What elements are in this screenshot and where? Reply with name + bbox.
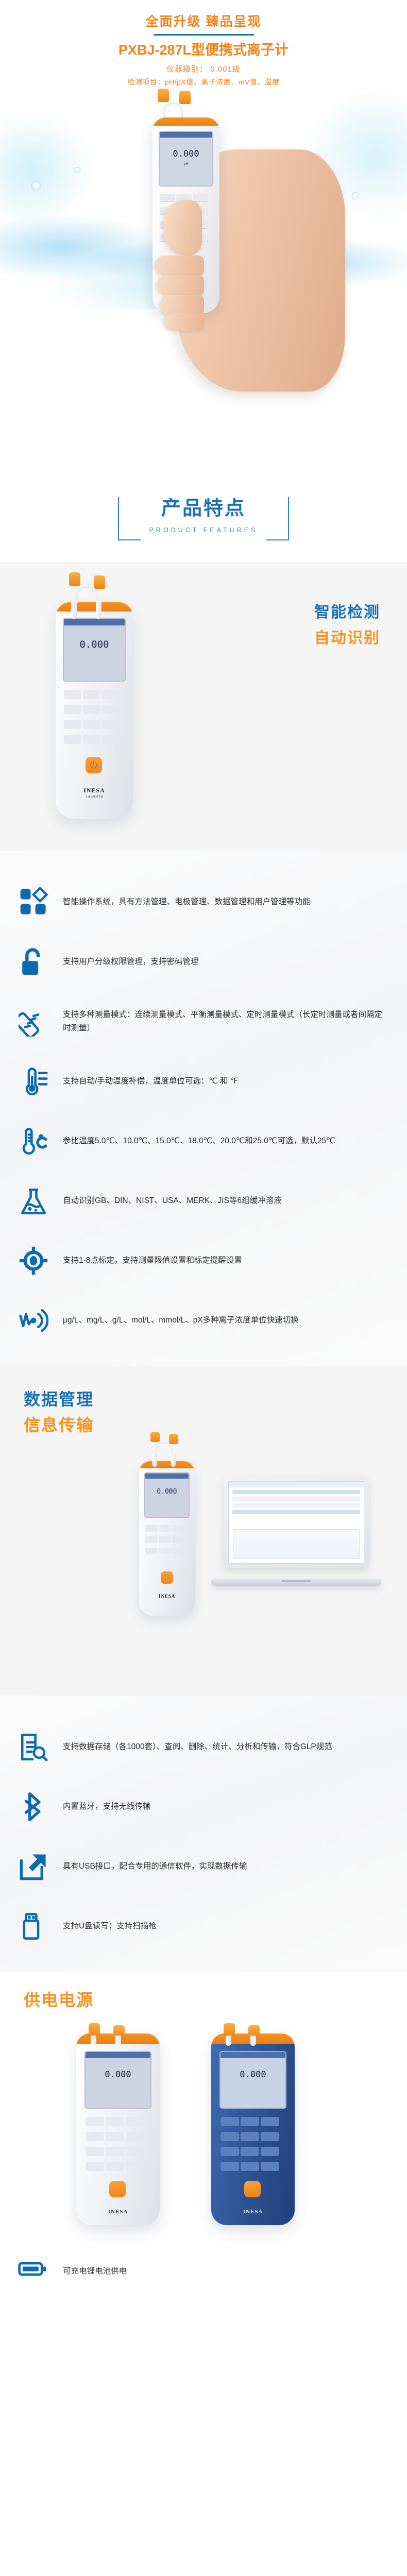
feature-item: μg/L、mg/L、g/L、mol/L、mmol/L、pX多种离子浓度单位快速切… — [0, 1291, 407, 1350]
feature-item: 参比温度5.0℃、10.0℃、15.0℃、18.0℃、20.0℃和25.0℃可选… — [0, 1111, 407, 1171]
key[interactable] — [126, 2162, 144, 2171]
title-divider — [154, 34, 254, 36]
key[interactable] — [126, 2132, 144, 2141]
key[interactable] — [106, 2117, 124, 2126]
key[interactable] — [172, 1536, 184, 1543]
key[interactable] — [159, 1536, 171, 1543]
device-top-band — [152, 117, 219, 126]
device-top-band — [56, 602, 133, 612]
probe-cap-left — [89, 2023, 100, 2037]
data-management-heading: 数据管理 信息传输 — [24, 1386, 94, 1436]
key[interactable] — [86, 2147, 104, 2156]
device-logo: INESA — [211, 2207, 295, 2216]
key[interactable] — [102, 705, 120, 714]
key[interactable] — [193, 194, 208, 202]
ion-meter-device-small: 0.000 INESA — [139, 1461, 195, 1616]
key[interactable] — [221, 2132, 239, 2141]
key[interactable] — [64, 720, 81, 729]
laptop-lid — [224, 1477, 369, 1568]
heading-line-2: 信息传输 — [24, 1412, 94, 1436]
laptop-screen — [228, 1481, 364, 1564]
probe-shaft-right — [250, 2036, 256, 2046]
key[interactable] — [145, 1548, 158, 1554]
key[interactable] — [160, 194, 175, 202]
key[interactable] — [221, 2117, 239, 2126]
feature-item: 支持自动/手动温度补偿，温度单位可选：℃ 和 ℉ — [0, 1052, 407, 1111]
key[interactable] — [64, 690, 81, 699]
probe-shaft-left — [226, 2036, 231, 2046]
key[interactable] — [102, 690, 120, 699]
screen-titlebar — [86, 2052, 150, 2058]
heading-line-1: 数据管理 — [24, 1386, 94, 1410]
device-logo: INESA — [76, 2207, 160, 2216]
screen-titlebar — [221, 2052, 285, 2058]
key[interactable] — [145, 1525, 158, 1532]
brand-name: INESA — [159, 1594, 176, 1599]
flask-icon — [18, 1185, 49, 1217]
battery-feature-text: 可充电锂电池供电 — [63, 2265, 127, 2276]
screen-reading: 0.000 — [64, 639, 125, 650]
feature-text: 内置蓝牙，支持无线传输 — [63, 1800, 151, 1814]
feature-item: 自动识别GB、DIN、NIST、USA、MERK、JIS等6组缓冲溶液 — [0, 1171, 407, 1231]
key[interactable] — [172, 1548, 184, 1554]
probe-cap-left — [224, 2023, 235, 2037]
thumb-illustration — [164, 200, 202, 256]
key[interactable] — [261, 2147, 279, 2156]
instrument-grade: 仪器级别： 0.001级 — [0, 63, 407, 74]
heading-line-2: 自动识别 — [314, 625, 380, 648]
measure-items: 检测项目：pH/pX值、离子浓度、mV值、温度 — [0, 77, 407, 87]
device-top-band — [139, 1461, 195, 1468]
feature-text: 支持1-8点标定，支持测量限值设置和标定提醒设置 — [63, 1254, 242, 1267]
key[interactable] — [241, 2162, 259, 2171]
key[interactable] — [126, 2117, 144, 2126]
fingers-illustration — [155, 256, 204, 333]
feature-text: 支持数据存储（各1000套）、查阅、删除、统计、分析和传输，符合GLP规范 — [63, 1740, 332, 1754]
screen-titlebar — [145, 1473, 189, 1479]
key[interactable] — [221, 2147, 239, 2156]
device-screen: 0.000 — [144, 1472, 190, 1518]
key[interactable] — [126, 2147, 144, 2156]
screen-reading: 0.000 — [145, 1488, 189, 1496]
laptop-base — [211, 1579, 381, 1586]
software-row — [232, 1490, 360, 1494]
key[interactable] — [86, 2162, 104, 2171]
brand-name-cn: 上海仪电科学仪 — [56, 795, 133, 799]
feature-text: 自动识别GB、DIN、NIST、USA、MERK、JIS等6组缓冲溶液 — [63, 1194, 282, 1208]
finger — [157, 275, 204, 296]
key[interactable] — [64, 735, 81, 744]
data-management-banner: 数据管理 信息传输 0.000 INESA — [0, 1366, 407, 1696]
key[interactable] — [145, 1536, 158, 1543]
screen-unit: pH — [160, 162, 212, 166]
power-devices-illustration: 0.000 INESA 0.000 — [0, 2023, 407, 2245]
key[interactable] — [172, 1525, 184, 1532]
product-detail-page: 全面升级 臻品呈现 PXBJ-287L型便携式离子计 仪器级别： 0.001级 … — [0, 0, 407, 2310]
software-titlebar — [229, 1482, 364, 1487]
probe-cap-right — [179, 91, 191, 104]
signal-wave-icon — [18, 1304, 49, 1336]
hero-tagline: 全面升级 臻品呈现 — [0, 11, 407, 30]
power-device-white: 0.000 INESA — [76, 2033, 160, 2225]
section-title-en: PRODUCT FEATURES — [126, 527, 281, 534]
key[interactable] — [64, 705, 81, 714]
key[interactable] — [106, 2132, 124, 2141]
key[interactable] — [106, 2162, 124, 2171]
feature-text: 支持用户分级权限管理，支持密码管理 — [63, 955, 199, 969]
ion-meter-device-standing: 0.000 INESA 上海仪电科学仪 — [56, 602, 133, 819]
key[interactable] — [83, 690, 100, 699]
smart-detection-banner: 0.000 INESA 上海仪电科学仪 智能检测 自动识别 — [0, 562, 407, 851]
probe-shaft-left — [152, 1454, 157, 1467]
unlock-icon — [18, 946, 49, 978]
key[interactable] — [106, 2147, 124, 2156]
data-feature-list: 支持数据存储（各1000套）、查阅、删除、统计、分析和传输，符合GLP规范 内置… — [0, 1696, 407, 1972]
probe-shaft-right — [115, 2036, 121, 2046]
feature-item: 支持用户分级权限管理，支持密码管理 — [0, 932, 407, 992]
hero-heading-group: 全面升级 臻品呈现 PXBJ-287L型便携式离子计 仪器级别： 0.001级 … — [0, 0, 407, 87]
thermometer-celsius-icon — [18, 1125, 49, 1157]
feature-item: 支持1-8点标定，支持测量限值设置和标定提醒设置 — [0, 1231, 407, 1291]
device-screen: 0.000 — [84, 2051, 151, 2109]
brand-name: INESA — [108, 2209, 128, 2215]
feature-text: μg/L、mg/L、g/L、mol/L、mmol/L、pX多种离子浓度单位快速切… — [63, 1314, 299, 1327]
hero-section: 全面升级 臻品呈现 PXBJ-287L型便携式离子计 仪器级别： 0.001级 … — [0, 0, 407, 477]
battery-icon — [18, 2254, 49, 2286]
brand-name: INESA — [83, 787, 105, 794]
heading-line-1: 智能检测 — [314, 599, 380, 622]
power-button[interactable] — [86, 757, 102, 773]
power-button[interactable] — [109, 2181, 126, 2197]
thermometer-icon — [18, 1065, 49, 1097]
device-screen: 0.000 pH — [159, 131, 213, 187]
feature-item: 支持数据存储（各1000套）、查阅、删除、统计、分析和传输，符合GLP规范 — [0, 1717, 407, 1777]
power-button[interactable] — [161, 1571, 173, 1584]
device-keypad — [221, 2117, 285, 2177]
key[interactable] — [159, 1525, 171, 1532]
device-logo: INESA 上海仪电科学仪 — [56, 786, 133, 799]
feature-list: 智能操作系统，具有方法管理、电极管理、数据管理和用户管理等功能 支持用户分级权限… — [0, 851, 407, 1366]
key[interactable] — [159, 1548, 171, 1554]
probe-shaft-right — [96, 602, 101, 619]
finger — [155, 256, 204, 276]
bluetooth-icon — [18, 1791, 49, 1823]
feature-text: 支持自动/手动温度补偿，温度单位可选：℃ 和 ℉ — [63, 1075, 238, 1088]
feature-text: 智能操作系统，具有方法管理、电极管理、数据管理和用户管理等功能 — [63, 895, 311, 909]
usb-drive-icon — [18, 1910, 49, 1942]
document-search-icon — [18, 1731, 49, 1763]
title-frame: 产品特点 PRODUCT FEATURES — [126, 490, 281, 540]
device-screen: 0.000 — [219, 2051, 286, 2109]
key[interactable] — [221, 2162, 239, 2171]
key[interactable] — [241, 2147, 259, 2156]
feature-item: 内置蓝牙，支持无线传输 — [0, 1777, 407, 1837]
apps-grid-icon — [18, 886, 49, 918]
ruler-icon — [18, 1006, 49, 1038]
device-keypad — [86, 2117, 150, 2177]
feature-item: 支持多种测量模式：连续测量模式、平衡测量模式、定时测量模式（长定时测量或者间隔定… — [0, 992, 407, 1052]
key[interactable] — [241, 2117, 259, 2126]
key[interactable] — [83, 705, 100, 714]
key[interactable] — [102, 735, 120, 744]
key[interactable] — [86, 2117, 104, 2126]
screen-reading: 0.000 — [160, 149, 212, 159]
finger — [160, 295, 204, 315]
key[interactable] — [86, 2132, 104, 2141]
probe-shaft-right — [171, 1454, 176, 1467]
battery-feature-item: 可充电锂电池供电 — [0, 2245, 407, 2310]
key[interactable] — [83, 720, 100, 729]
feature-text: 支持U盘读写；支持扫描枪 — [63, 1920, 157, 1933]
key[interactable] — [261, 2132, 279, 2141]
usb-export-icon — [18, 1851, 49, 1883]
probe-cap-right — [169, 1434, 178, 1444]
laptop-illustration — [211, 1477, 381, 1595]
smart-detection-heading: 智能检测 自动识别 — [314, 599, 380, 648]
screen-reading: 0.000 — [86, 2070, 150, 2080]
probe-cap-right — [94, 575, 105, 589]
key[interactable] — [83, 735, 100, 744]
probe-cable — [155, 1442, 173, 1456]
power-supply-section: 供电电源 0.000 — [0, 1972, 407, 2310]
feature-text: 支持多种测量模式：连续测量模式、平衡测量模式、定时测量模式（长定时测量或者间隔定… — [63, 1008, 389, 1035]
probe-cap-left — [69, 572, 80, 586]
feature-item: 具有USB接口，配合专用的通信软件，实现数据传输 — [0, 1837, 407, 1896]
device-logo: INESA — [139, 1591, 195, 1600]
screen-titlebar — [160, 132, 212, 138]
key[interactable] — [241, 2132, 259, 2141]
probe-cable — [163, 102, 183, 120]
software-chart-area — [233, 1529, 360, 1559]
probe-cable — [75, 586, 99, 603]
feature-item: 智能操作系统，具有方法管理、电极管理、数据管理和用户管理等功能 — [0, 872, 407, 932]
device-keypad — [64, 690, 125, 750]
target-icon — [18, 1245, 49, 1277]
software-row — [232, 1497, 360, 1501]
probe-cap-left — [150, 1432, 160, 1442]
product-title: PXBJ-287L型便携式离子计 — [0, 39, 407, 59]
hero-product-illustration: 0.000 pH INESA 上海仪电科学仪 — [0, 77, 407, 407]
power-section-title: 供电电源 — [0, 1987, 407, 2011]
finger — [164, 313, 204, 331]
brand-name: INESA — [243, 2209, 263, 2215]
software-row — [232, 1503, 360, 1507]
key[interactable] — [261, 2162, 279, 2171]
device-keypad — [145, 1525, 189, 1559]
feature-text: 具有USB接口，配合专用的通信软件，实现数据传输 — [63, 1860, 247, 1873]
power-device-blue: 0.000 INESA — [211, 2033, 295, 2225]
software-row — [232, 1510, 360, 1514]
screen-titlebar — [64, 619, 125, 625]
feature-text: 参比温度5.0℃、10.0℃、15.0℃、18.0℃、20.0℃和25.0℃可选… — [63, 1134, 335, 1148]
product-features-title-block: 产品特点 PRODUCT FEATURES — [0, 477, 407, 562]
probe-cap-left — [158, 89, 169, 102]
probe-shaft-left — [91, 2036, 96, 2046]
probe-shaft-left — [71, 602, 77, 619]
key[interactable] — [261, 2117, 279, 2126]
screen-reading: 0.000 — [221, 2070, 285, 2080]
section-title-cn: 产品特点 — [126, 490, 281, 520]
feature-item: 支持U盘读写；支持扫描枪 — [0, 1896, 407, 1956]
power-button[interactable] — [244, 2181, 261, 2197]
device-screen: 0.000 — [63, 618, 126, 682]
key[interactable] — [102, 720, 120, 729]
